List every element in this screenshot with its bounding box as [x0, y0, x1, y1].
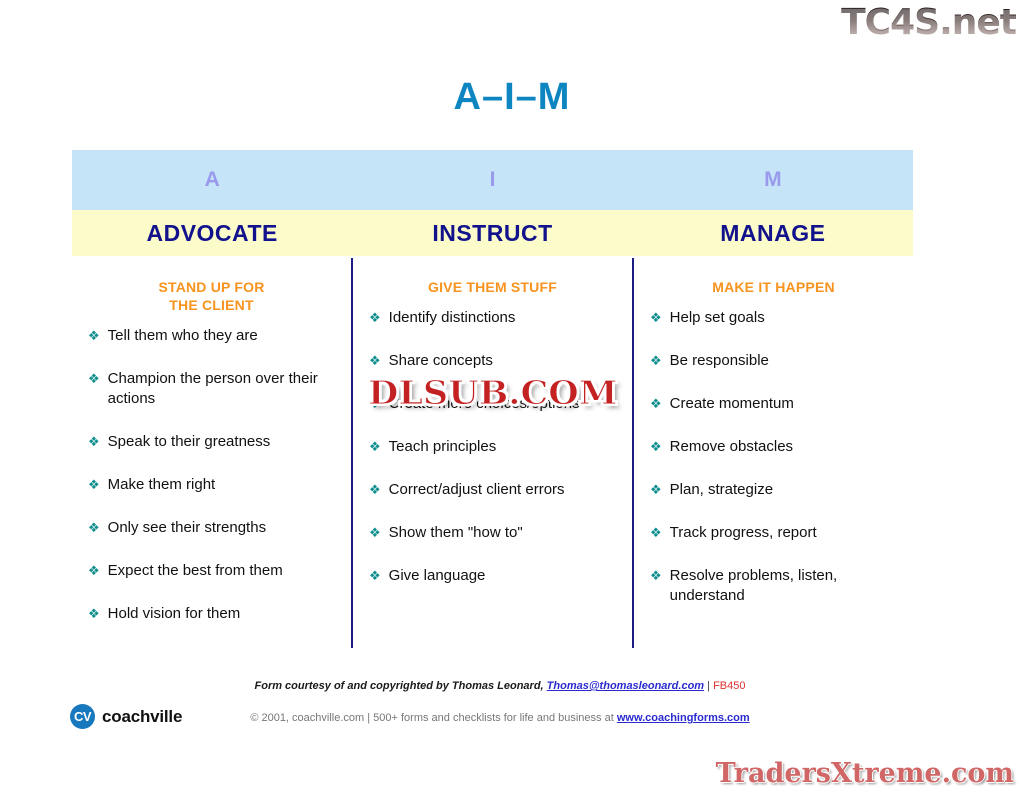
- list-item: ❖ Identify distinctions: [369, 308, 622, 328]
- list-item: ❖ Remove obstacles: [650, 437, 903, 457]
- list-item: ❖ Speak to their greatness: [88, 432, 341, 452]
- band-cell-manage: MANAGE: [633, 210, 913, 256]
- bullet-list-advocate: ❖ Tell them who they are ❖ Champion the …: [78, 326, 345, 624]
- list-item-text: Teach principles: [389, 437, 622, 457]
- subtitle-line-1: STAND UP FOR: [78, 278, 345, 296]
- footer-site-link[interactable]: www.coachingforms.com: [617, 712, 750, 724]
- header-letter-band: A I M: [72, 150, 913, 210]
- list-item-text: Give language: [389, 566, 622, 586]
- column-manage: MAKE IT HAPPEN ❖ Help set goals ❖ Be res…: [632, 258, 913, 648]
- diamond-bullet-icon: ❖: [88, 326, 100, 346]
- columns-container: STAND UP FOR THE CLIENT ❖ Tell them who …: [72, 258, 913, 648]
- subtitle-line-1: GIVE THEM STUFF: [359, 278, 626, 296]
- band-cell-m: M: [633, 150, 913, 210]
- list-item-text: Expect the best from them: [108, 561, 341, 581]
- diamond-bullet-icon: ❖: [369, 351, 381, 371]
- footer-email-link[interactable]: Thomas@thomasleonard.com: [547, 680, 704, 692]
- list-item-text: Help set goals: [670, 308, 903, 328]
- footer-copyright-prefix: © 2001, coachville.com | 500+ forms and …: [250, 712, 617, 724]
- tradersxtreme-watermark: TradersXtreme.com: [716, 758, 1014, 789]
- list-item: ❖ Tell them who they are: [88, 326, 341, 346]
- band-cell-advocate: ADVOCATE: [72, 210, 352, 256]
- list-item: ❖ Create momentum: [650, 394, 903, 414]
- list-item-text: Hold vision for them: [108, 604, 341, 624]
- diamond-bullet-icon: ❖: [650, 351, 662, 371]
- band-word-instruct: INSTRUCT: [432, 220, 552, 247]
- column-subtitle-instruct: GIVE THEM STUFF: [359, 278, 626, 296]
- list-item-text: Plan, strategize: [670, 480, 903, 500]
- list-item: ❖ Track progress, report: [650, 523, 903, 543]
- diamond-bullet-icon: ❖: [650, 308, 662, 328]
- footer-credit-line: Form courtesy of and copyrighted by Thom…: [0, 680, 1024, 692]
- page-title: A–I–M: [0, 76, 1024, 119]
- bullet-list-instruct: ❖ Identify distinctions ❖ Share concepts…: [359, 308, 626, 586]
- list-item: ❖ Plan, strategize: [650, 480, 903, 500]
- list-item-text: Champion the person over their actions: [108, 369, 341, 409]
- dlsub-watermark: DLSUB.COM: [368, 373, 617, 412]
- diamond-bullet-icon: ❖: [369, 523, 381, 543]
- list-item-text: Create momentum: [670, 394, 903, 414]
- diamond-bullet-icon: ❖: [369, 480, 381, 500]
- band-word-advocate: ADVOCATE: [146, 220, 277, 247]
- diamond-bullet-icon: ❖: [88, 604, 100, 624]
- band-cell-i: I: [352, 150, 632, 210]
- list-item: ❖ Resolve problems, listen, understand: [650, 566, 903, 606]
- column-advocate: STAND UP FOR THE CLIENT ❖ Tell them who …: [72, 258, 351, 648]
- coachville-logo: CV coachville: [70, 704, 182, 729]
- band-letter-a: A: [205, 168, 220, 192]
- list-item: ❖ Give language: [369, 566, 622, 586]
- list-item: ❖ Correct/adjust client errors: [369, 480, 622, 500]
- footer-credit-prefix: Form courtesy of and copyrighted by Thom…: [255, 680, 547, 692]
- cv-badge-icon: CV: [70, 704, 95, 729]
- diamond-bullet-icon: ❖: [88, 369, 100, 389]
- list-item: ❖ Teach principles: [369, 437, 622, 457]
- diamond-bullet-icon: ❖: [88, 432, 100, 452]
- list-item-text: Only see their strengths: [108, 518, 341, 538]
- list-item-text: Be responsible: [670, 351, 903, 371]
- list-item-text: Share concepts: [389, 351, 622, 371]
- list-item-text: Resolve problems, listen, understand: [670, 566, 903, 606]
- subtitle-line-1: MAKE IT HAPPEN: [640, 278, 907, 296]
- diamond-bullet-icon: ❖: [88, 518, 100, 538]
- diamond-bullet-icon: ❖: [369, 437, 381, 457]
- bullet-list-manage: ❖ Help set goals ❖ Be responsible ❖ Crea…: [640, 308, 907, 606]
- diamond-bullet-icon: ❖: [369, 566, 381, 586]
- band-letter-m: M: [764, 168, 782, 192]
- list-item-text: Speak to their greatness: [108, 432, 341, 452]
- header-word-band: ADVOCATE INSTRUCT MANAGE: [72, 210, 913, 256]
- list-item: ❖ Help set goals: [650, 308, 903, 328]
- list-item: ❖ Only see their strengths: [88, 518, 341, 538]
- column-subtitle-manage: MAKE IT HAPPEN: [640, 278, 907, 296]
- list-item: ❖ Champion the person over their actions: [88, 369, 341, 409]
- footer-form-code: FB450: [713, 680, 745, 692]
- diamond-bullet-icon: ❖: [650, 523, 662, 543]
- slide-canvas: TC4S.net A–I–M A I M ADVOCATE INSTRUCT M…: [0, 0, 1024, 791]
- column-instruct: GIVE THEM STUFF ❖ Identify distinctions …: [351, 258, 632, 648]
- list-item: ❖ Show them "how to": [369, 523, 622, 543]
- list-item-text: Track progress, report: [670, 523, 903, 543]
- diamond-bullet-icon: ❖: [650, 566, 662, 586]
- diamond-bullet-icon: ❖: [88, 475, 100, 495]
- band-letter-i: I: [490, 168, 496, 192]
- list-item-text: Correct/adjust client errors: [389, 480, 622, 500]
- footer-separator: |: [704, 680, 713, 692]
- diamond-bullet-icon: ❖: [650, 394, 662, 414]
- list-item: ❖ Expect the best from them: [88, 561, 341, 581]
- list-item-text: Tell them who they are: [108, 326, 341, 346]
- coachville-wordmark: coachville: [102, 707, 182, 727]
- list-item-text: Show them "how to": [389, 523, 622, 543]
- list-item-text: Make them right: [108, 475, 341, 495]
- diamond-bullet-icon: ❖: [650, 480, 662, 500]
- tc4s-watermark: TC4S.net: [841, 2, 1016, 43]
- list-item: ❖ Hold vision for them: [88, 604, 341, 624]
- diamond-bullet-icon: ❖: [88, 561, 100, 581]
- column-subtitle-advocate: STAND UP FOR THE CLIENT: [78, 278, 345, 314]
- subtitle-line-2: THE CLIENT: [78, 296, 345, 314]
- list-item: ❖ Make them right: [88, 475, 341, 495]
- list-item: ❖ Be responsible: [650, 351, 903, 371]
- diamond-bullet-icon: ❖: [369, 308, 381, 328]
- band-word-manage: MANAGE: [720, 220, 825, 247]
- list-item-text: Identify distinctions: [389, 308, 622, 328]
- band-cell-a: A: [72, 150, 352, 210]
- list-item-text: Remove obstacles: [670, 437, 903, 457]
- list-item: ❖ Share concepts: [369, 351, 622, 371]
- diamond-bullet-icon: ❖: [650, 437, 662, 457]
- band-cell-instruct: INSTRUCT: [352, 210, 632, 256]
